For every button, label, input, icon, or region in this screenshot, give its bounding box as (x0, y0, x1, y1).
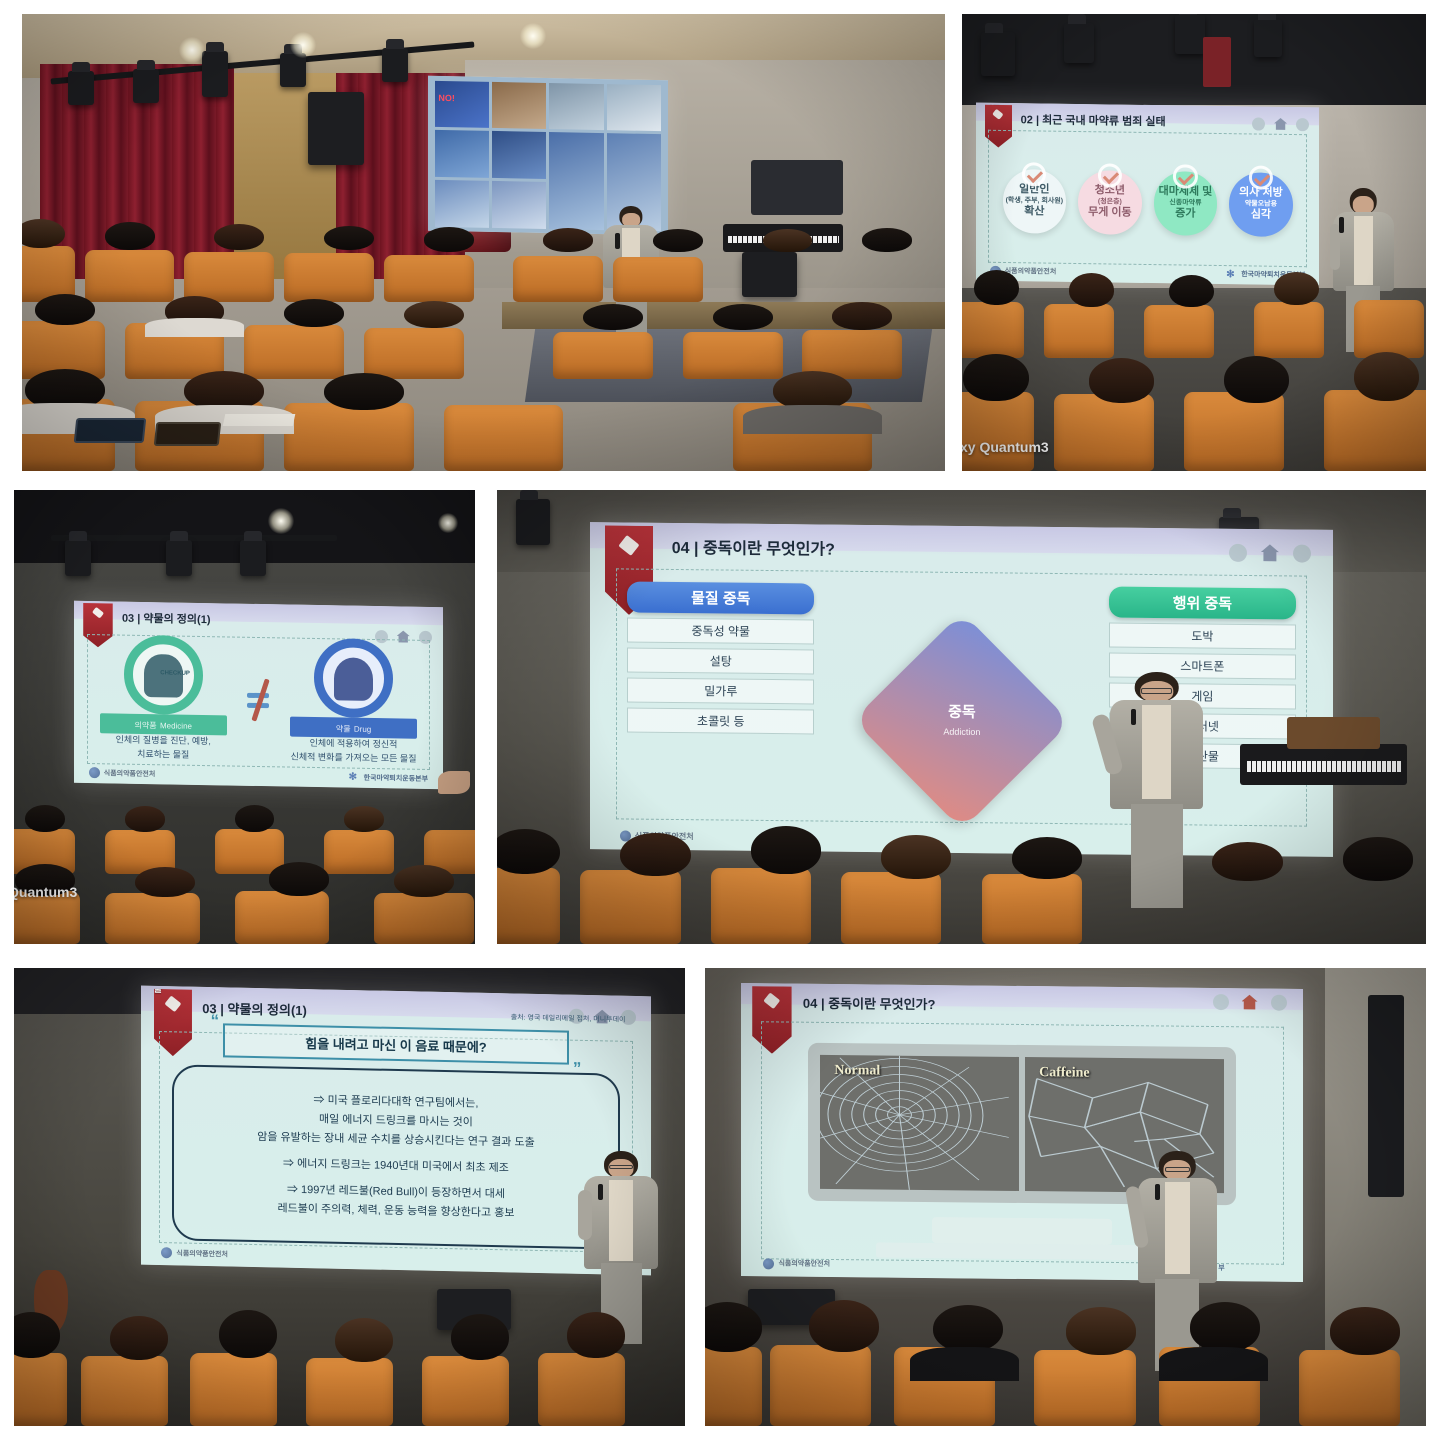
collage-tile (607, 84, 661, 132)
presenter-arm (578, 1190, 591, 1240)
seat-row (22, 215, 945, 302)
presenter-shirt (1142, 705, 1172, 799)
medicine-column: CHECKUP 의약품 Medicine 인체의 질병을 진단, 예방, 치료하… (100, 634, 227, 762)
body-line: 매일 에너지 드링크를 마시는 것이 (320, 1111, 474, 1131)
light-glow (268, 508, 294, 534)
prev-slide-icon[interactable] (1213, 994, 1229, 1010)
not-equal-icon (247, 674, 269, 725)
slide-footer-left: 식품의약품안전처 (89, 767, 156, 779)
presenter-hand (438, 771, 470, 794)
home-icon[interactable] (1242, 995, 1258, 1010)
next-slide-icon[interactable] (1293, 544, 1311, 562)
stage-light (1254, 19, 1282, 57)
prev-slide-icon[interactable] (1252, 118, 1265, 131)
drug-label: 약물 Drug (290, 716, 417, 738)
monitor-stand (932, 1217, 1112, 1245)
microphone (1131, 709, 1136, 725)
syringe-icon (763, 993, 780, 1010)
next-slide-icon[interactable] (1271, 995, 1287, 1011)
projection-screen: 중독성약물 03 | 약물의 정의(1) (74, 600, 443, 788)
drug-column: 약물 Drug 인체에 적용하여 정신적 신체적 변화를 가져오는 모든 물질 (290, 637, 417, 765)
slide-footer-right: ✻ 한국마약퇴치운동본부 (349, 771, 428, 783)
home-icon[interactable] (1261, 545, 1279, 562)
projection-screen: 중독성약물 04 | 중독이란 무엇인가? (741, 983, 1303, 1282)
stage-light (382, 48, 408, 82)
stage-light (202, 51, 228, 97)
home-icon[interactable] (1274, 118, 1287, 130)
glasses-icon (609, 1165, 633, 1170)
slide-navigation[interactable] (1252, 118, 1309, 132)
stage-light (166, 540, 192, 576)
concept-circle-row: 일반인 (학생, 주부, 회사원) 확산 청소년 (청은층) 무게 이동 (997, 150, 1299, 258)
panel-auditorium-wide[interactable]: NO! (22, 14, 945, 471)
tablet-device (74, 418, 146, 443)
medicine-desc: 인체의 질병을 진단, 예방, 치료하는 물질 (116, 733, 211, 762)
slide-title: 03 | 약물의 정의(1) (122, 609, 211, 627)
body-line: 암을 유발하는 장내 세균 수치를 상승시킨다는 연구 결과 도출 (258, 1129, 535, 1152)
list-item: 밀가루 (627, 678, 814, 705)
slide-title: 04 | 중독이란 무엇인가? (672, 535, 835, 561)
slide-source: 출처: 영국 데일리메일 접처, 머니투데이 (511, 1013, 626, 1024)
checkup-label: CHECKUP (160, 670, 190, 677)
substance-addiction-group: 물질 중독 중독성 약물 설탕 밀가루 초콜릿 등 (627, 582, 814, 735)
music-stand (1303, 1105, 1337, 1153)
watermark: Quantum3 (14, 884, 77, 900)
panel-slide-03-definition[interactable]: 중독성약물 03 | 약물의 정의(1) (14, 490, 475, 944)
drug-desc: 인체에 적용하여 정신적 신체적 변화를 가져오는 모든 물질 (290, 736, 416, 765)
seat-row (14, 799, 475, 875)
list-item: 도박 (1109, 623, 1296, 650)
collage-tile (435, 130, 489, 178)
body-line: 레드불이 주의력, 체력, 운동 능력을 향상한다고 홍보 (278, 1201, 515, 1223)
list-item: 초콜릿 등 (627, 708, 814, 735)
collage-tile: NO! (435, 80, 489, 128)
panel-slide-04-spiderweb[interactable]: 중독성약물 04 | 중독이란 무엇인가? (705, 968, 1426, 1426)
list-item: 설탕 (627, 648, 814, 675)
projection-screen: 중독성약물 02 | 최근 국내 마약류 범죄 실태 (976, 103, 1319, 286)
mfds-logo-icon (162, 1247, 173, 1258)
glasses-icon (1141, 688, 1173, 694)
seat-row (705, 1307, 1426, 1426)
concept-circle: 청소년 (청은층) 무게 이동 (1078, 171, 1141, 235)
slide-navigation[interactable] (1213, 994, 1287, 1011)
presenter-shirt (1165, 1182, 1190, 1274)
slide-title: 04 | 중독이란 무엇인가? (803, 993, 936, 1013)
seat-row (962, 270, 1426, 358)
web-label-normal: Normal (834, 1063, 880, 1079)
syringe-icon (618, 535, 640, 556)
stage-light (68, 71, 94, 105)
light-glow (179, 37, 205, 63)
photo-collage: NO! (0, 0, 1440, 1440)
spiderweb-normal: Normal (821, 1055, 1020, 1191)
slide-body: ⇒ 미국 플로리다대학 연구팀에서는, 매일 에너지 드링크를 마시는 것이 암… (172, 1064, 621, 1249)
glasses-icon (1165, 1167, 1190, 1172)
web-label-caffeine: Caffeine (1039, 1065, 1090, 1082)
stage-light (65, 540, 91, 576)
collage-tile-headline: NO! (439, 93, 456, 103)
panel-slide-02[interactable]: 중독성약물 02 | 최근 국내 마약류 범죄 실태 (962, 14, 1426, 471)
light-glow (290, 32, 316, 58)
slide-footer-left: 식품의약품안전처 (764, 1258, 831, 1270)
stage-light (981, 32, 1015, 76)
concept-circle: 의사 처방 약물오남용 심각 (1229, 173, 1292, 237)
mfds-logo-icon (764, 1258, 775, 1269)
panel-slide-04-addiction[interactable]: 중독성약물 04 | 중독이란 무엇인가? (497, 490, 1426, 944)
projection-screen: 중독성약물 03 | 약물의 정의(1) 출처: 영국 데일리메일 접처, 머니… (141, 986, 651, 1276)
drug-illustration (314, 638, 393, 718)
stage-light (133, 69, 159, 103)
seat-row (22, 369, 945, 471)
stage-light (1175, 14, 1205, 54)
tablet-device (153, 422, 220, 446)
projection-screen: 중독성약물 04 | 중독이란 무엇인가? (590, 522, 1333, 857)
next-slide-icon[interactable] (1296, 118, 1309, 131)
seat-row (22, 292, 945, 379)
music-stand (54, 1197, 98, 1255)
stage-light (240, 540, 266, 576)
presenter-shirt (609, 1180, 633, 1261)
music-stand (1027, 681, 1067, 735)
syringe-icon (92, 606, 104, 618)
concept-circle: 대마제제 및 신종마약류 증가 (1154, 172, 1217, 236)
syringe-icon (165, 995, 182, 1012)
list-item: 중독성 약물 (627, 618, 814, 645)
collage-tile (492, 131, 546, 179)
addiction-en: Addiction (943, 728, 980, 738)
slide-title: 02 | 최근 국내 마약류 범죄 실태 (1021, 112, 1166, 130)
collage-tile (492, 82, 546, 130)
mfds-logo-icon (89, 767, 100, 778)
light-glow (438, 513, 458, 533)
medicine-label: 의약품 Medicine (100, 713, 227, 735)
concept-circle: 일반인 (학생, 주부, 회사원) 확산 (1003, 170, 1066, 234)
ceiling-speaker (308, 92, 363, 165)
paper-notes (223, 414, 295, 426)
medicine-illustration: CHECKUP (124, 635, 203, 715)
addiction-ko: 중독 (943, 702, 980, 723)
body-line: ⇒ 1997년 레드불(Red Bull)이 등장하면서 대세 (287, 1182, 505, 1204)
slide-footer-left: 식품의약품안전처 (162, 1247, 229, 1259)
seat-row (14, 868, 475, 944)
prev-slide-icon[interactable] (1229, 544, 1247, 562)
lighting-truss (51, 535, 337, 541)
seat-row (14, 1316, 685, 1426)
stage-light (516, 499, 550, 545)
slide-quote: “ 힘을 내려고 마신 이 음료 때문에? ” (223, 1024, 570, 1065)
behavior-addiction-header: 행위 중독 (1109, 587, 1296, 620)
body-line: ⇒ 에너지 드링크는 1940년대 미국에서 최초 제조 (284, 1156, 510, 1178)
stage-light (1064, 23, 1094, 63)
body-line: ⇒ 미국 플로리다대학 연구팀에서는, (314, 1092, 479, 1113)
microphone (1155, 1184, 1160, 1200)
microphone (598, 1184, 603, 1200)
microphone (1339, 217, 1344, 233)
collage-tile (550, 83, 604, 131)
presenter-face (1353, 196, 1374, 214)
watermark: xy Quantum3 (962, 439, 1049, 455)
quote-open-icon: “ (211, 1011, 220, 1031)
panel-slide-03-energy-drink[interactable]: 중독성약물 03 | 약물의 정의(1) 출처: 영국 데일리메일 접처, 머니… (14, 968, 685, 1426)
syringe-icon (992, 109, 1004, 120)
piano (1240, 744, 1407, 785)
org-logo-icon: ✻ (349, 771, 360, 782)
music-stand (1287, 663, 1331, 719)
substance-addiction-header: 물질 중독 (627, 582, 814, 615)
seat-row (497, 835, 1426, 944)
slide-navigation[interactable] (1229, 544, 1311, 563)
